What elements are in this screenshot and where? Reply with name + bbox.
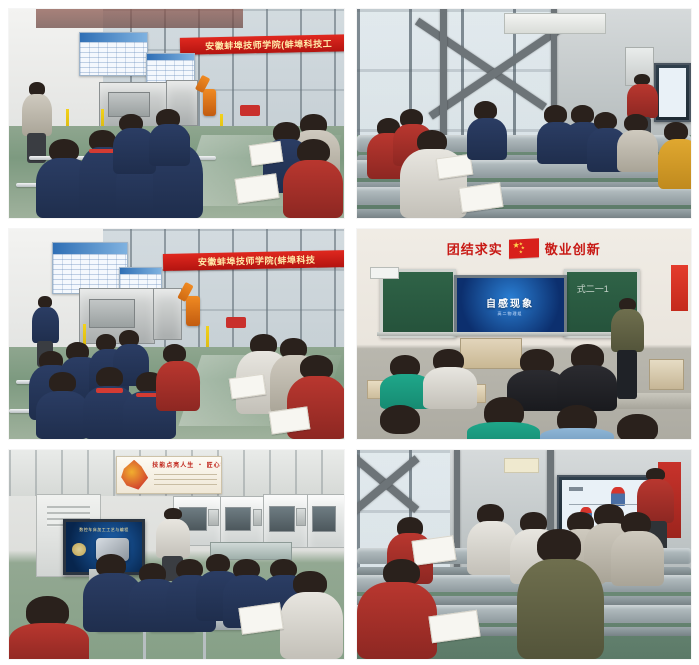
machine-door [108,92,150,117]
board-frame-rail [377,332,638,336]
workshop-training-scene-1: 安徽蚌埠技师学院(蚌埠科技工 [9,9,344,218]
projector-screen: 自感现象 高二物理组 [454,275,567,335]
student-body [423,367,477,409]
handout-paper [238,602,283,635]
cnc-machine [263,494,308,548]
cnc-machine [220,496,265,546]
collage-panel-1[interactable]: 安徽蚌埠技师学院(蚌埠科技工 [9,9,344,218]
student-head [617,414,657,439]
podium [460,338,522,369]
collage-panel-2[interactable] [357,9,692,218]
ceiling-sign [504,13,606,34]
workshop-training-scene-2: 安徽蚌埠技师学院(蚌埠科技 [9,229,344,438]
wall-slogan: 团结求实 ★ ★ ★ ★ 敬业创新 [370,238,678,259]
handout-paper [249,141,284,166]
cnc-machine [307,494,344,548]
slide-subtitle: 高二物理组 [457,311,564,317]
info-board-content [80,42,147,75]
attendee-body [658,139,691,189]
collage-panel-3[interactable]: 安徽蚌埠技师学院(蚌埠科技 [9,229,344,438]
slogan-right-text: 敬业创新 [545,239,601,258]
attendee-body [357,582,437,659]
honor-board-line [154,479,216,480]
info-board-1 [52,242,128,294]
machine-control-panel [253,509,263,525]
hall-presentation-scene-2 [357,450,692,659]
honor-board: 技能点亮人生 ‧ 匠心铸就梦想 [116,456,222,494]
speaker-body [627,84,657,118]
wall-display-screen [654,63,691,121]
cnc-machine [79,288,155,344]
student-body [9,623,89,659]
instructor-body [22,94,52,135]
tool-cart [226,317,246,327]
handout-paper [412,535,457,566]
info-board-title-bar [80,33,147,42]
student-body [557,365,617,411]
attendee-body [617,130,657,172]
instructor-body [156,519,189,558]
uniform-collar [96,388,123,392]
robot-arm [186,296,199,325]
honor-board-line [154,484,216,485]
collage-panel-4[interactable]: 团结求实 ★ ★ ★ ★ 敬业创新 式二一1 自感现象 高二物理组 [357,229,692,438]
student-body [540,428,614,438]
hall-presentation-scene-1 [357,9,692,218]
machine-control-panel [208,509,218,525]
national-flag-icon: ★ ★ ★ ★ [509,238,539,259]
wall-poster [671,265,688,311]
wall-sign [504,458,539,473]
wall-switch-panel [370,267,399,279]
trainee-head [49,372,76,393]
student-body [280,592,344,659]
machine-window [312,506,336,532]
trainee-body [156,361,199,411]
trainee-body [36,391,90,439]
collage-panel-5[interactable]: 技能点亮人生 ‧ 匠心铸就梦想 数控车床加工工艺与编程 [9,450,344,659]
honor-board-title: 技能点亮人生 ‧ 匠心铸就梦想 [152,460,216,469]
robot-arm [203,89,216,116]
student-body [467,422,541,439]
attendee-head [537,529,580,562]
machine-door [89,299,135,328]
teacher-body [611,309,644,351]
attendee-body [611,531,665,585]
column [440,9,447,139]
info-board-title-bar [53,243,127,254]
machine-control-panel [296,508,306,526]
attendee-body [283,160,343,219]
instructor-figure [22,82,52,162]
chalkboard-note: 式二一1 [577,282,609,295]
display-title: 数控车床加工工艺与编程 [70,527,138,533]
machine-window [225,507,251,531]
attendee-body [517,559,604,659]
machine-window [269,506,295,532]
cnc-lab-scene: 技能点亮人生 ‧ 匠心铸就梦想 数控车床加工工艺与编程 [9,450,344,659]
classroom-scene: 团结求实 ★ ★ ★ ★ 敬业创新 式二一1 自感现象 高二物理组 [357,229,692,438]
instructor-body [32,307,59,343]
attendee-body [467,118,507,160]
slide-title: 自感现象 [457,295,564,310]
tool-cart [240,105,260,115]
trainee-body [149,124,189,166]
honor-board-line [154,474,216,475]
upper-mezzanine-band [36,9,243,28]
display-badge [72,543,86,556]
slogan-left-text: 团结求实 [447,239,503,258]
student-head [380,405,420,434]
teacher-legs [617,350,638,399]
info-board-1 [79,32,148,76]
trainee-head [96,367,123,388]
collage-panel-6[interactable] [357,450,692,659]
honor-board-figure [121,460,148,490]
screen-surface [659,68,686,116]
slide-text-block [569,487,583,491]
side-desk [649,359,684,390]
photo-collage: 安徽蚌埠技师学院(蚌埠科技工 [0,0,699,665]
